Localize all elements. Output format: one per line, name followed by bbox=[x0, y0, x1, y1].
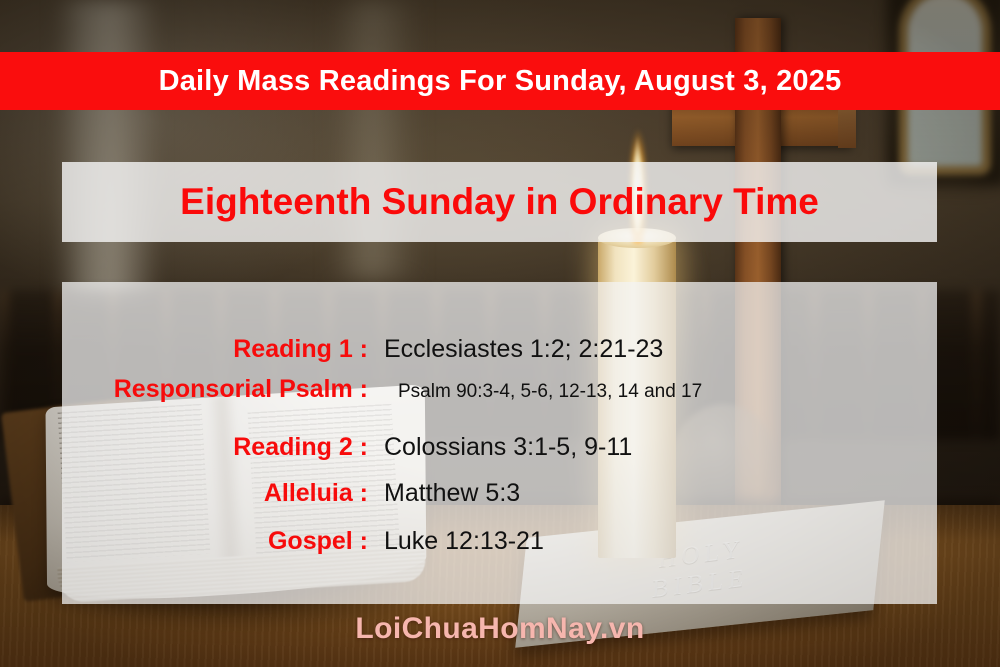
poster-canvas: HOLY BIBLE Daily Mass Readings For Sunda… bbox=[0, 0, 1000, 667]
responsorial-psalm-label: Responsorial Psalm : bbox=[62, 375, 380, 404]
alleluia-label: Alleluia : bbox=[62, 479, 380, 508]
reading-1-value: Ecclesiastes 1:2; 2:21-23 bbox=[380, 335, 663, 364]
gospel-label: Gospel : bbox=[62, 527, 380, 556]
reading-1-label: Reading 1 : bbox=[62, 335, 380, 364]
readings-panel: Reading 1 : Ecclesiastes 1:2; 2:21-23 Re… bbox=[62, 282, 937, 604]
site-watermark: LoiChuaHomNay.vn bbox=[0, 612, 1000, 646]
reading-row: Responsorial Psalm : Psalm 90:3-4, 5-6, … bbox=[62, 375, 937, 404]
reading-row: Reading 2 : Colossians 3:1-5, 9-11 bbox=[62, 433, 937, 462]
page-title: Daily Mass Readings For Sunday, August 3… bbox=[159, 65, 842, 98]
responsorial-psalm-value: Psalm 90:3-4, 5-6, 12-13, 14 and 17 bbox=[380, 381, 702, 403]
reading-2-value: Colossians 3:1-5, 9-11 bbox=[380, 433, 632, 462]
liturgical-day-box: Eighteenth Sunday in Ordinary Time bbox=[62, 162, 937, 242]
gospel-value: Luke 12:13-21 bbox=[380, 527, 544, 556]
title-banner: Daily Mass Readings For Sunday, August 3… bbox=[0, 52, 1000, 110]
reading-row: Reading 1 : Ecclesiastes 1:2; 2:21-23 bbox=[62, 335, 937, 364]
reading-2-label: Reading 2 : bbox=[62, 433, 380, 462]
reading-row: Alleluia : Matthew 5:3 bbox=[62, 479, 937, 508]
reading-row: Gospel : Luke 12:13-21 bbox=[62, 527, 937, 556]
alleluia-value: Matthew 5:3 bbox=[380, 479, 520, 508]
liturgical-day-title: Eighteenth Sunday in Ordinary Time bbox=[180, 181, 819, 223]
